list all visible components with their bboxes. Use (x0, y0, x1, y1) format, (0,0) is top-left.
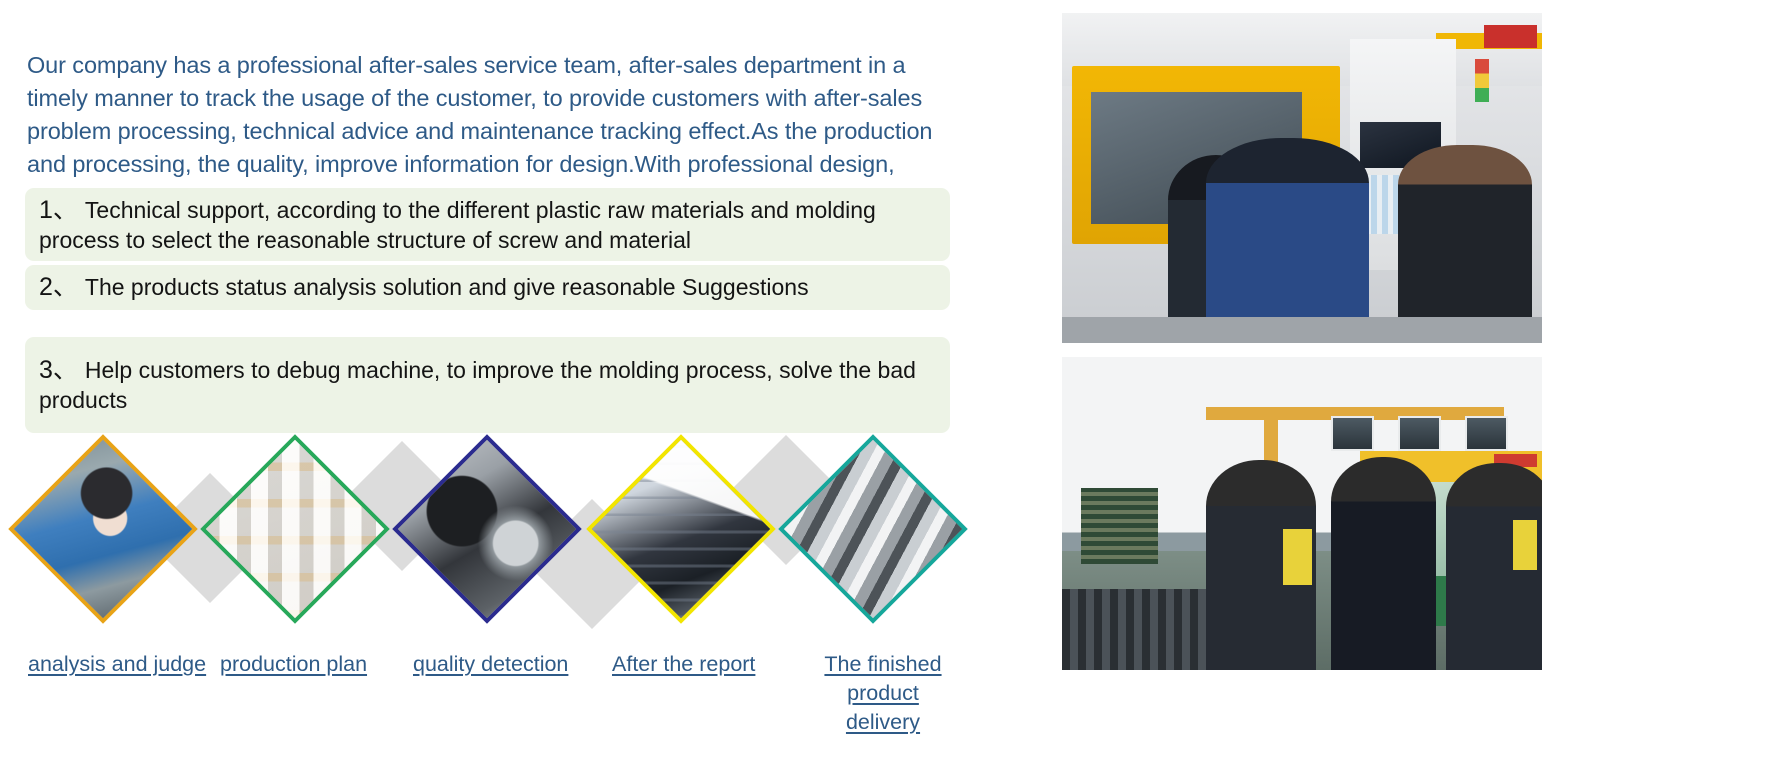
process-step-label-analysis-and-judge[interactable]: analysis and judge (28, 650, 206, 679)
storage-rack (1081, 488, 1158, 563)
red-wall-banner (1484, 25, 1537, 48)
process-step-image-production-plan[interactable] (200, 434, 390, 624)
service-item-1-text: Technical support, according to the diff… (39, 197, 876, 253)
process-step-labels: analysis and judge production plan quali… (0, 645, 1010, 776)
right-photo-column (1062, 0, 1768, 776)
left-content-column: Our company has a professional after-sal… (0, 0, 1010, 776)
machine-scene-bottom (1062, 357, 1542, 670)
service-item-2-number: 2、 (39, 273, 78, 301)
service-item-3-number: 3、 (39, 356, 78, 384)
person-center-inspecting-part (1331, 457, 1437, 670)
photo-engineers-inspecting-part-in-workshop (1062, 357, 1542, 670)
service-item-1: 1、Technical support, according to the di… (25, 188, 950, 261)
process-step-label-after-the-report[interactable]: After the report (612, 650, 755, 679)
machine-scene-top (1062, 13, 1542, 343)
parts-bins (1062, 589, 1225, 670)
floor (1062, 317, 1542, 343)
wall-window (1465, 416, 1508, 450)
process-step-label-quality-detection[interactable]: quality detection (413, 650, 568, 679)
person-right-staff-badge (1513, 520, 1537, 570)
wall-window (1398, 416, 1441, 450)
service-page: Our company has a professional after-sal… (0, 0, 1768, 776)
service-item-2-text: The products status analysis solution an… (85, 274, 809, 300)
service-item-3-text: Help customers to debug machine, to impr… (39, 357, 916, 413)
wall-window (1331, 416, 1374, 450)
planning-board-with-notes-image (206, 440, 385, 619)
process-step-image-analysis-and-judge[interactable] (8, 434, 198, 624)
process-step-label-production-plan[interactable]: production plan (220, 650, 367, 679)
person-left-staff-badge (1283, 529, 1312, 585)
worker-inspecting-screw-image (14, 440, 193, 619)
service-item-3: 3、Help customers to debug machine, to im… (25, 337, 950, 433)
person-visitor (1398, 145, 1532, 343)
process-step-label-the-finished-product-delivery[interactable]: The finished product delivery (808, 650, 958, 737)
signal-tower-light (1475, 59, 1489, 102)
service-item-2: 2、The products status analysis solution … (25, 265, 950, 310)
person-operator-blue-jacket (1206, 138, 1369, 343)
photo-customers-at-injection-molding-machine-control-panel (1062, 13, 1542, 343)
service-item-1-number: 1、 (39, 196, 78, 224)
